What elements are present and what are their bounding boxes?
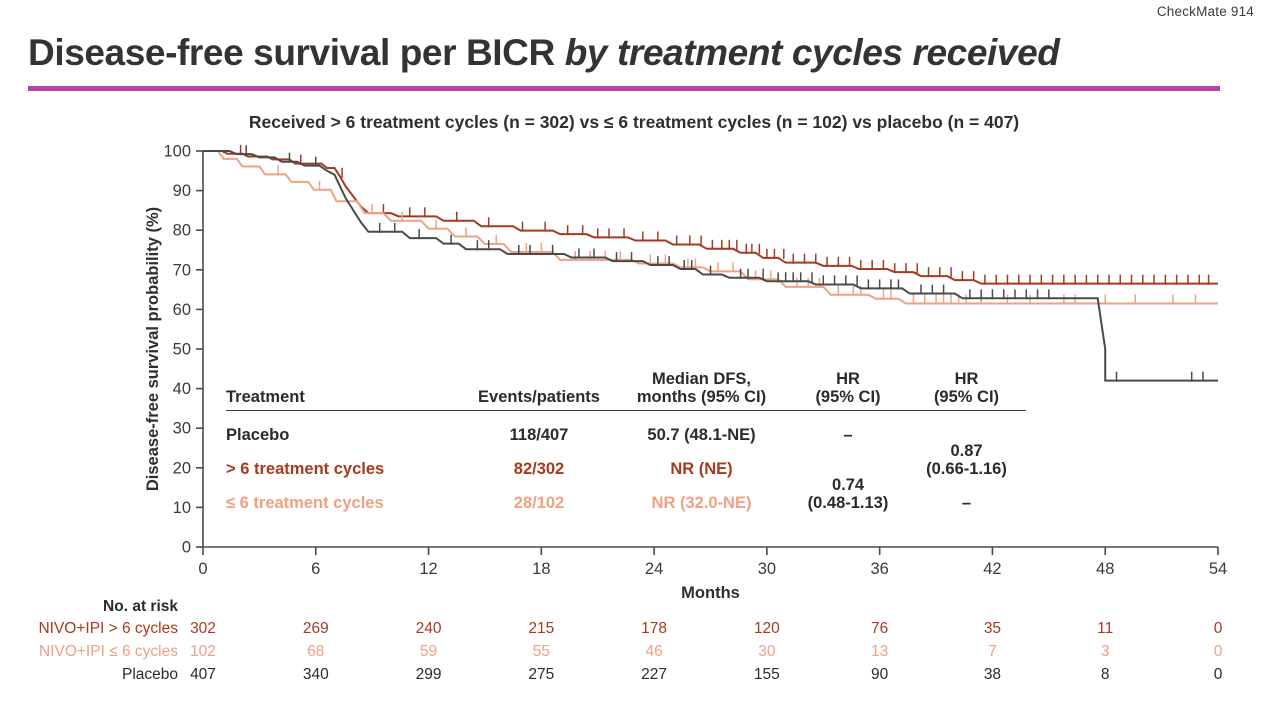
risk-value: 38 <box>969 666 1015 684</box>
cell-treatment-le6: ≤ 6 treatment cycles <box>226 479 464 513</box>
no-at-risk-title: No. at risk <box>0 598 178 616</box>
km-series-2 <box>203 145 1218 382</box>
table-header-row: Treatment Events/patients Median DFS,mon… <box>226 370 1026 407</box>
risk-value: 227 <box>631 666 677 684</box>
risk-value: 178 <box>631 620 677 638</box>
risk-value: 275 <box>518 666 564 684</box>
risk-value: 340 <box>293 666 339 684</box>
km-curve <box>203 151 1218 284</box>
risk-value: 59 <box>406 643 452 661</box>
risk-value: 0 <box>1195 666 1241 684</box>
risk-value: 155 <box>744 666 790 684</box>
km-plot-container: 0102030405060708090100061218243036424854… <box>0 0 1268 714</box>
y-tick-label: 20 <box>173 459 191 477</box>
risk-value: 269 <box>293 620 339 638</box>
y-tick-label: 100 <box>163 143 191 161</box>
statistics-table: Treatment Events/patients Median DFS,mon… <box>226 370 1026 513</box>
km-series-1 <box>203 151 1218 304</box>
slide-root: CheckMate 914 Disease-free survival per … <box>0 0 1268 714</box>
km-curve <box>203 151 1218 303</box>
risk-value: 8 <box>1082 666 1128 684</box>
risk-value: 120 <box>744 620 790 638</box>
risk-row-1: NIVO+IPI ≤ 6 cycles102685955463013730 <box>0 643 1268 664</box>
risk-value: 240 <box>406 620 452 638</box>
header-treatment: Treatment <box>226 370 464 407</box>
x-tick-label: 0 <box>198 560 207 578</box>
y-tick-label: 80 <box>173 222 191 240</box>
y-tick-label: 50 <box>173 341 191 359</box>
cell-treatment-gt6: > 6 treatment cycles <box>226 445 464 479</box>
risk-value: 299 <box>406 666 452 684</box>
risk-value: 13 <box>857 643 903 661</box>
risk-value: 35 <box>969 620 1015 638</box>
risk-value: 302 <box>180 620 226 638</box>
cell-hr1-placebo: – <box>789 411 907 445</box>
risk-value: 3 <box>1082 643 1128 661</box>
risk-row-label: NIVO+IPI ≤ 6 cycles <box>0 643 178 661</box>
km-survival-chart: 0102030405060708090100061218243036424854… <box>0 0 1268 714</box>
header-hr-2: HR(95% CI) <box>907 370 1026 407</box>
header-median-line1: Median DFS, <box>652 370 751 388</box>
x-tick-label: 18 <box>532 560 550 578</box>
risk-value: 76 <box>857 620 903 638</box>
cell-events-placebo: 118/407 <box>464 411 614 445</box>
y-tick-label: 40 <box>173 380 191 398</box>
risk-row-2: Placebo407340299275227155903880 <box>0 666 1268 687</box>
risk-row-label: Placebo <box>0 666 178 684</box>
header-hr2-line2: (95% CI) <box>934 388 999 406</box>
x-tick-label: 48 <box>1096 560 1114 578</box>
cell-median-placebo: 50.7 (48.1-NE) <box>614 411 789 445</box>
y-tick-label: 0 <box>182 539 191 557</box>
risk-value: 7 <box>969 643 1015 661</box>
risk-value: 90 <box>857 666 903 684</box>
risk-value: 407 <box>180 666 226 684</box>
x-tick-label: 42 <box>983 560 1001 578</box>
x-axis-title: Months <box>681 584 740 602</box>
cell-hr1-gt6: 0.74(0.48-1.13) <box>789 445 907 513</box>
cell-hr2-placebo-ci: (0.66-1.16) <box>926 460 1007 478</box>
table-row-gt6-cycles: > 6 treatment cycles 82/302 NR (NE) 0.74… <box>226 445 1026 479</box>
header-hr1-line2: (95% CI) <box>815 388 880 406</box>
risk-value: 0 <box>1195 620 1241 638</box>
y-axis-title: Disease-free survival probability (%) <box>144 207 162 491</box>
header-events: Events/patients <box>464 370 614 407</box>
risk-value: 30 <box>744 643 790 661</box>
risk-value: 55 <box>518 643 564 661</box>
cell-events-le6: 28/102 <box>464 479 614 513</box>
risk-value: 0 <box>1195 643 1241 661</box>
table-row-placebo: Placebo 118/407 50.7 (48.1-NE) – 0.87(0.… <box>226 411 1026 445</box>
x-tick-label: 54 <box>1209 560 1227 578</box>
cell-hr1-gt6-value: 0.74 <box>832 476 864 494</box>
x-tick-label: 30 <box>758 560 776 578</box>
risk-value: 46 <box>631 643 677 661</box>
x-tick-label: 12 <box>419 560 437 578</box>
y-tick-label: 10 <box>173 499 191 517</box>
header-median-line2: months (95% CI) <box>637 388 766 406</box>
risk-row-label: NIVO+IPI > 6 cycles <box>0 620 178 638</box>
cell-hr2-le6: – <box>907 479 1026 513</box>
y-tick-label: 70 <box>173 261 191 279</box>
cell-median-gt6: NR (NE) <box>614 445 789 479</box>
header-median-dfs: Median DFS,months (95% CI) <box>614 370 789 407</box>
y-tick-label: 60 <box>173 301 191 319</box>
cell-hr2-placebo: 0.87(0.66-1.16) <box>907 411 1026 479</box>
risk-row-0: NIVO+IPI > 6 cycles302269240215178120763… <box>0 620 1268 641</box>
risk-value: 215 <box>518 620 564 638</box>
x-tick-label: 24 <box>645 560 663 578</box>
header-hr1-line1: HR <box>836 370 860 388</box>
cell-events-gt6: 82/302 <box>464 445 614 479</box>
cell-hr1-gt6-ci: (0.48-1.13) <box>808 494 889 512</box>
header-hr2-line1: HR <box>955 370 979 388</box>
risk-value: 68 <box>293 643 339 661</box>
risk-value: 11 <box>1082 620 1128 638</box>
x-tick-label: 36 <box>870 560 888 578</box>
y-tick-label: 90 <box>173 182 191 200</box>
risk-value: 102 <box>180 643 226 661</box>
header-hr-1: HR(95% CI) <box>789 370 907 407</box>
x-tick-label: 6 <box>311 560 320 578</box>
cell-median-le6: NR (32.0-NE) <box>614 479 789 513</box>
cell-treatment-placebo: Placebo <box>226 411 464 445</box>
y-tick-label: 30 <box>173 420 191 438</box>
cell-hr2-placebo-value: 0.87 <box>950 442 982 460</box>
